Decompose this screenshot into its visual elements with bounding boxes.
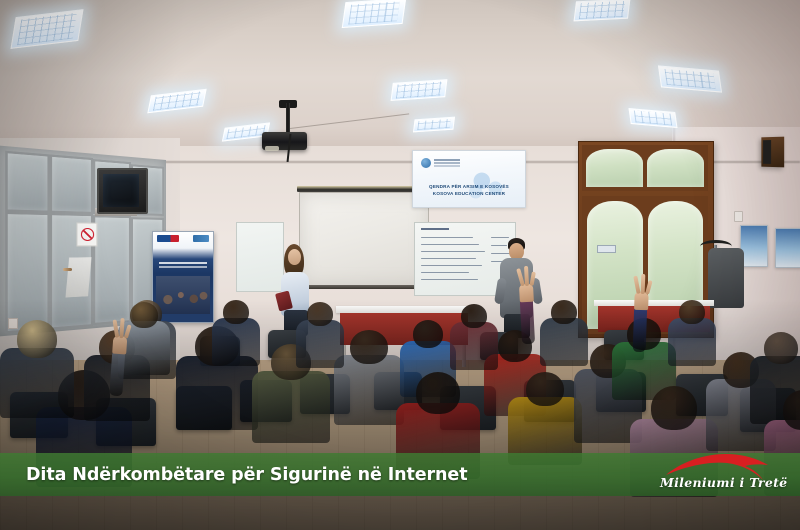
- student-backrow-c: [450, 304, 498, 376]
- kec-wall-banner: QENDRA PËR ARSIM E KOSOVËS KOSOVA EDUCAT…: [412, 150, 526, 208]
- raised-hand-finger: [524, 266, 529, 286]
- door-transom-window: [582, 145, 708, 191]
- student-backrow-d: [540, 300, 588, 372]
- caption-title: Dita Ndërkombëtare për Sigurinë në Inter…: [26, 465, 467, 485]
- audience-body: [334, 355, 404, 425]
- audience-head: [307, 302, 333, 326]
- raised-arm-sleeve: [109, 350, 125, 397]
- raised-arm-sleeve: [633, 306, 648, 352]
- whiteboard-text-line: [491, 237, 509, 238]
- raised-hand-finger: [529, 271, 535, 285]
- wall-speaker: [761, 137, 784, 168]
- student-backrow-e: [668, 300, 716, 372]
- ceiling-light-panel: [574, 0, 631, 21]
- window-pane: [5, 151, 50, 213]
- wall-tv: [97, 168, 148, 214]
- kec-banner-line-2: KOSOVA EDUCATION CENTER: [413, 191, 525, 196]
- whiteboard-text-line: [421, 265, 482, 266]
- whiteboard-left: [236, 222, 284, 292]
- audience-body: [212, 318, 260, 366]
- raised-hand-finger: [113, 320, 119, 338]
- speaker-grille-icon: [763, 140, 771, 164]
- raised-hand-mid: [514, 265, 540, 342]
- kec-emblem-text: [434, 159, 460, 161]
- raised-hand-palm: [519, 284, 534, 303]
- window-pane: [50, 154, 93, 214]
- audience-body: [540, 318, 588, 366]
- raised-hand-finger: [633, 276, 640, 294]
- usaid-logo-icon: [157, 235, 179, 242]
- kec-logo-icon: [193, 235, 209, 242]
- audience-head: [223, 300, 249, 324]
- raised-hand-right: [629, 274, 654, 351]
- flipchart-behind-glass: [65, 257, 91, 297]
- kec-banner-line-1: QENDRA PËR ARSIM E KOSOVËS: [413, 184, 525, 189]
- window-pane: [5, 212, 50, 334]
- audience-head: [551, 300, 577, 324]
- transom-pane-left: [586, 149, 643, 187]
- presenter-woman-head: [288, 249, 301, 265]
- transom-pane-right: [647, 149, 704, 187]
- whiteboard-text-line: [421, 244, 479, 245]
- audience-head: [130, 302, 158, 328]
- student-backrow-b: [296, 302, 344, 374]
- audience-head: [764, 332, 798, 364]
- hanging-coat: [708, 248, 744, 308]
- audience-head: [526, 372, 564, 406]
- whiteboard-text-line: [421, 237, 473, 238]
- whiteboard-text-line: [421, 279, 478, 280]
- tv-screen: [103, 174, 139, 207]
- kec-emblem-icon: [421, 158, 431, 168]
- student-left-a: [0, 320, 74, 428]
- projector-lens-icon: [265, 146, 279, 151]
- whiteboard-text-line: [421, 272, 469, 273]
- brand-logo: Mileniumi i Tretë: [654, 452, 784, 498]
- wall-poster: [775, 228, 800, 268]
- raised-hand-palm: [634, 292, 649, 310]
- light-switch[interactable]: [734, 211, 743, 222]
- whiteboard-text-line: [491, 245, 507, 246]
- student-greyhood: [334, 330, 404, 434]
- audience-body: [668, 318, 716, 366]
- ceiling-light-panel: [342, 0, 406, 28]
- projection-screen: [299, 192, 429, 288]
- photo-canvas: QENDRA PËR ARSIM E KOSOVËS KOSOVA EDUCAT…: [0, 0, 800, 530]
- projection-screen-bottom-bar: [299, 285, 427, 289]
- projector-pole: [286, 103, 290, 135]
- door-handle[interactable]: [63, 268, 72, 271]
- audience-head: [413, 320, 443, 348]
- audience-head: [350, 330, 388, 364]
- audience-head: [416, 372, 460, 414]
- raised-hand-finger: [516, 268, 524, 286]
- no-smoking-icon: [76, 222, 97, 246]
- raised-hand-finger: [641, 274, 645, 294]
- audience-head: [17, 320, 57, 358]
- audience-head: [461, 304, 487, 328]
- rollup-headline: [159, 262, 207, 264]
- globe-graphic-icon: [457, 161, 519, 205]
- audience-head: [679, 300, 705, 324]
- audience-body: [252, 371, 330, 443]
- raised-hand-finger: [645, 280, 652, 294]
- audience-body: [450, 322, 498, 370]
- whiteboard-text-line: [421, 258, 476, 259]
- raised-hand-finger: [124, 324, 131, 338]
- student-backrow-a: [212, 300, 260, 372]
- audience-body: [0, 348, 74, 418]
- whiteboard-text-line: [421, 251, 485, 252]
- door-sign: [597, 245, 616, 253]
- audience-head: [651, 386, 697, 430]
- whiteboard-text-line: [491, 253, 510, 254]
- raised-arm-sleeve: [520, 298, 535, 345]
- wall-poster: [740, 225, 768, 267]
- audience-body: [296, 320, 344, 368]
- brand-name: Mileniumi i Tretë: [660, 475, 784, 490]
- whiteboard-heading-mark: [421, 228, 449, 230]
